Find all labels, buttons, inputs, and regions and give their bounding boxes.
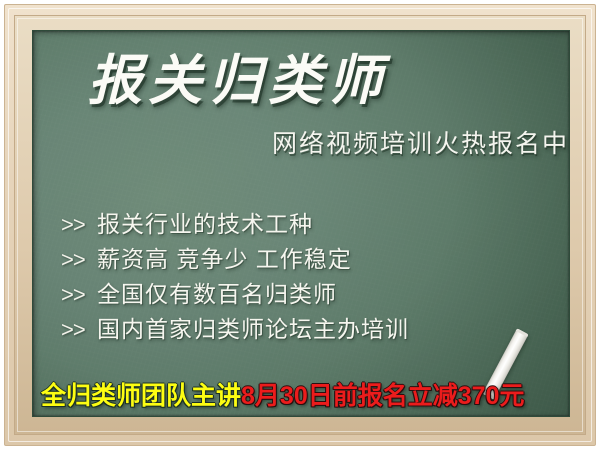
page-title: 报关归类师 <box>88 53 488 107</box>
poster-canvas: 报关归类师 网络视频培训火热报名中 >> 报关行业的技术工种 >> 薪资高 竞争… <box>0 0 600 450</box>
list-item-label: 报关行业的技术工种 <box>97 205 561 239</box>
feature-list: >> 报关行业的技术工种 >> 薪资高 竞争少 工作稳定 >> 全国仅有数百名归… <box>61 205 561 345</box>
page-subtitle: 网络视频培训火热报名中 <box>213 129 569 159</box>
list-item-label: 全国仅有数百名归类师 <box>97 275 561 309</box>
list-item: >> 全国仅有数百名归类师 <box>61 275 561 310</box>
list-item-label: 国内首家归类师论坛主办培训 <box>97 310 561 344</box>
promo-banner: 全归类师团队主讲 8月30日前报名立减370元 <box>41 377 561 411</box>
list-item: >> 国内首家归类师论坛主办培训 <box>61 310 561 345</box>
list-item: >> 薪资高 竞争少 工作稳定 <box>61 240 561 275</box>
list-item-label: 薪资高 竞争少 工作稳定 <box>97 240 561 274</box>
double-chevron-right-icon: >> <box>61 212 97 238</box>
double-chevron-right-icon: >> <box>61 247 97 273</box>
list-item: >> 报关行业的技术工种 <box>61 205 561 240</box>
promo-highlight-text: 全归类师团队主讲 <box>41 376 241 412</box>
double-chevron-right-icon: >> <box>61 282 97 308</box>
chalkboard: 报关归类师 网络视频培训火热报名中 >> 报关行业的技术工种 >> 薪资高 竞争… <box>33 31 569 416</box>
promo-offer-text: 8月30日前报名立减370元 <box>241 376 524 412</box>
double-chevron-right-icon: >> <box>61 317 97 343</box>
